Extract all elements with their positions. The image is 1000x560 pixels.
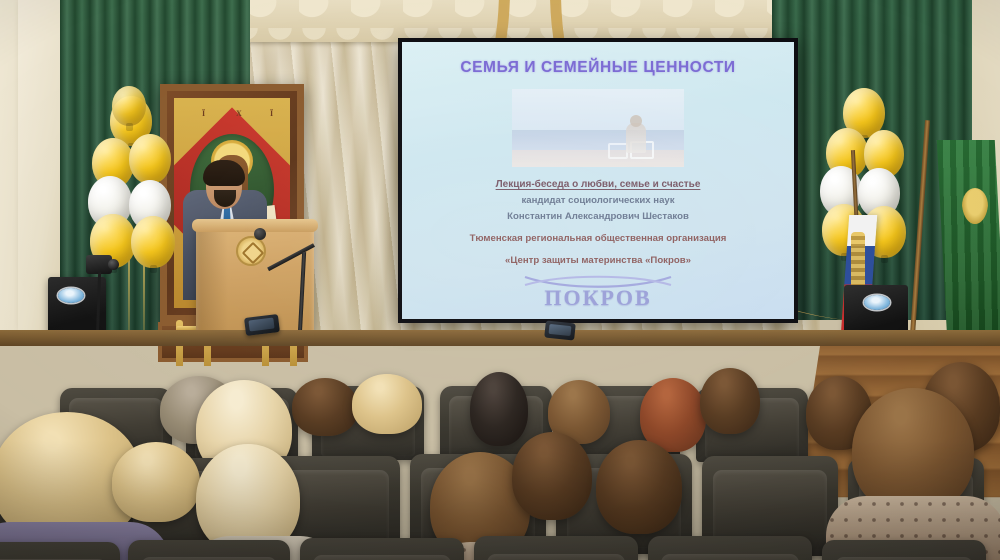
slide-organization-line1: Тюменская региональная общественная орга… <box>402 233 794 244</box>
seat-cushion <box>487 554 625 560</box>
slide-speaker-name: Константин Александрович Шестаков <box>402 211 794 222</box>
microphone-icon <box>254 228 266 240</box>
slide-title: СЕМЬЯ И СЕМЕЙНЫЕ ЦЕННОСТИ <box>402 59 794 77</box>
audience-seating <box>0 336 1000 560</box>
seat <box>474 536 638 560</box>
seat <box>300 538 464 560</box>
slide-photo <box>512 89 684 167</box>
photo-beach <box>512 150 684 167</box>
balloon-gold <box>112 86 146 126</box>
seat <box>0 542 120 560</box>
photo-chair <box>608 143 628 159</box>
slide-logo: ПОКРОВ <box>402 274 794 316</box>
green-banner-flag <box>937 140 1000 340</box>
seat <box>822 540 986 560</box>
audience-head <box>292 378 358 436</box>
projection-screen: СЕМЬЯ И СЕМЕЙНЫЕ ЦЕННОСТИ Лекция-беседа … <box>402 42 794 319</box>
slide-subtitle: Лекция-беседа о любви, семье и счастье <box>402 179 794 190</box>
photo-person <box>626 123 646 153</box>
seat <box>648 536 812 560</box>
audience-head <box>512 432 592 520</box>
photo-person-head <box>630 115 642 127</box>
seat-cushion <box>313 555 451 560</box>
auditorium-photo: Ї Х Ї СЕМЬЯ И СЕМЕЙНЫЕ ЦЕННОСТИ <box>0 0 1000 560</box>
audience-head <box>596 440 682 534</box>
photo-sky <box>512 89 684 130</box>
icon-inscription-right: Ї <box>270 109 274 118</box>
speaker-hair <box>203 160 245 186</box>
photo-sea <box>512 130 684 150</box>
flag-emblem-icon <box>962 188 988 224</box>
projection-screen-frame: СЕМЬЯ И СЕМЕЙНЫЕ ЦЕННОСТИ Лекция-беседа … <box>398 38 798 323</box>
audience-head <box>470 372 528 446</box>
audience-head <box>700 368 760 434</box>
balloon-gold <box>131 216 175 268</box>
slide-organization-line2: «Центр защиты материнства «Покров» <box>402 255 794 266</box>
slide-logo-text: ПОКРОВ <box>402 285 794 311</box>
audience-head <box>112 442 200 522</box>
phone-screen <box>549 324 572 336</box>
audience-head <box>352 374 422 434</box>
podium-emblem-icon <box>236 236 266 266</box>
loudspeaker-badge-icon <box>864 295 890 310</box>
seat <box>128 540 290 560</box>
seat-cushion <box>661 554 799 560</box>
loudspeaker-badge-icon <box>58 288 84 303</box>
slide-speaker-credential: кандидат социологических наук <box>402 195 794 206</box>
icon-inscription-center: Х <box>236 109 243 118</box>
podium-shading <box>196 222 228 334</box>
camera-lens-icon <box>108 259 119 270</box>
balloon-gold <box>129 134 171 184</box>
icon-inscription-left: Ї <box>202 109 206 118</box>
